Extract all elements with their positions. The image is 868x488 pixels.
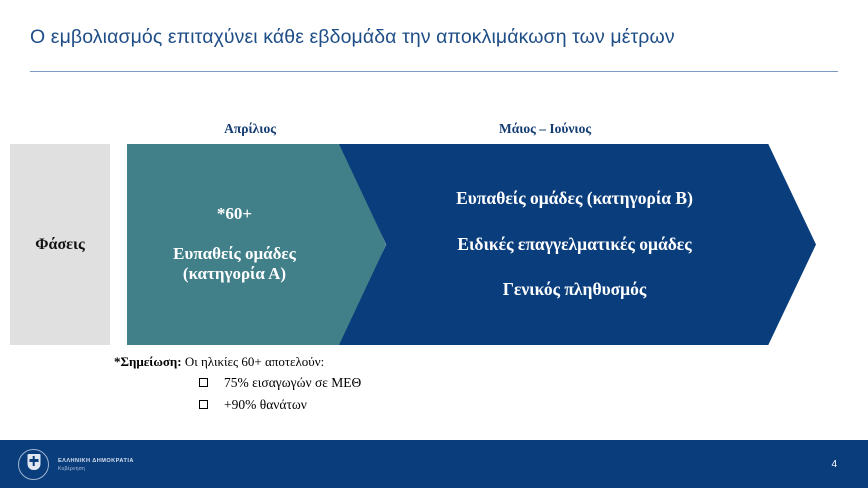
- footer-bar: ΕΛΛΗΝΙΚΗ ΔΗΜΟΚΡΑΤΙΑ Κυβέρνηση 4: [0, 440, 868, 488]
- footnote-bullet-2: +90% θανάτων: [224, 395, 307, 414]
- footnote-intro: Οι ηλικίες 60+ αποτελούν:: [182, 354, 325, 369]
- footnote-note-word: *Σημείωση:: [114, 354, 182, 369]
- phases-box-label: Φάσεις: [35, 236, 84, 254]
- list-item: 75% εισαγωγών σε ΜΕΘ: [114, 373, 361, 392]
- footer-subtitle: Κυβέρνηση: [58, 466, 134, 472]
- phases-box: Φάσεις: [10, 144, 110, 345]
- footnote-bullet-1: 75% εισαγωγών σε ΜΕΘ: [224, 373, 361, 392]
- hellenic-republic-emblem-icon: [18, 449, 49, 480]
- phase-2-chevron: [339, 144, 816, 345]
- page-title: Ο εμβολιασμός επιταχύνει κάθε εβδομάδα τ…: [30, 26, 830, 49]
- square-bullet-icon: [199, 378, 208, 387]
- footnote-bullet-list: 75% εισαγωγών σε ΜΕΘ +90% θανάτων: [114, 373, 361, 413]
- footer-text-block: ΕΛΛΗΝΙΚΗ ΔΗΜΟΚΡΑΤΙΑ Κυβέρνηση: [58, 458, 134, 472]
- list-item: +90% θανάτων: [114, 395, 361, 414]
- phase-1-chevron: [127, 144, 386, 345]
- cross-horizontal-icon: [29, 459, 38, 462]
- footer-logo: ΕΛΛΗΝΙΚΗ ΔΗΜΟΚΡΑΤΙΑ Κυβέρνηση: [18, 449, 134, 480]
- period-label-phase-1: Απρίλιος: [130, 121, 370, 137]
- footer-organization: ΕΛΛΗΝΙΚΗ ΔΗΜΟΚΡΑΤΙΑ: [58, 458, 134, 464]
- page-number: 4: [831, 459, 837, 470]
- footnote-heading: *Σημείωση: Οι ηλικίες 60+ αποτελούν:: [114, 353, 361, 371]
- footnote: *Σημείωση: Οι ηλικίες 60+ αποτελούν: 75%…: [114, 353, 361, 414]
- square-bullet-icon: [199, 400, 208, 409]
- period-label-phase-2: Μάιος – Ιούνιος: [400, 121, 690, 137]
- title-divider: [30, 71, 838, 72]
